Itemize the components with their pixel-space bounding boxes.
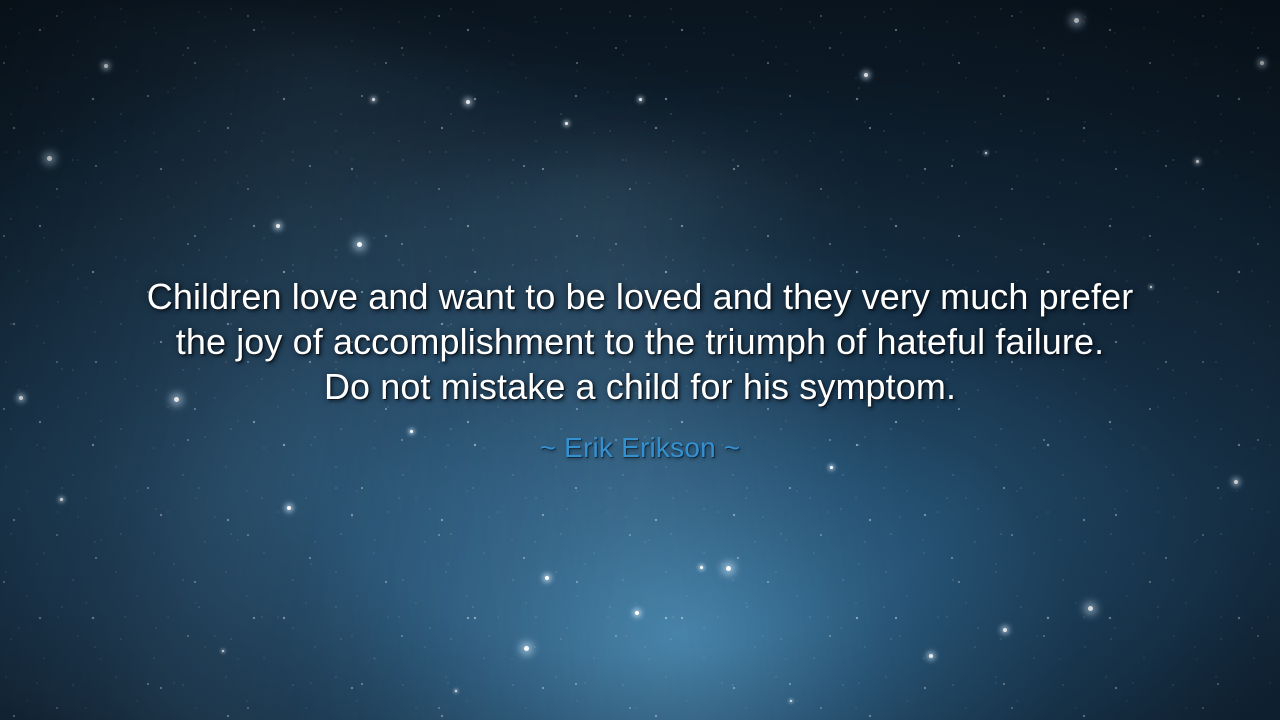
- night-sky-background: [0, 0, 1280, 720]
- quote-card: Children love and want to be loved and t…: [0, 0, 1280, 720]
